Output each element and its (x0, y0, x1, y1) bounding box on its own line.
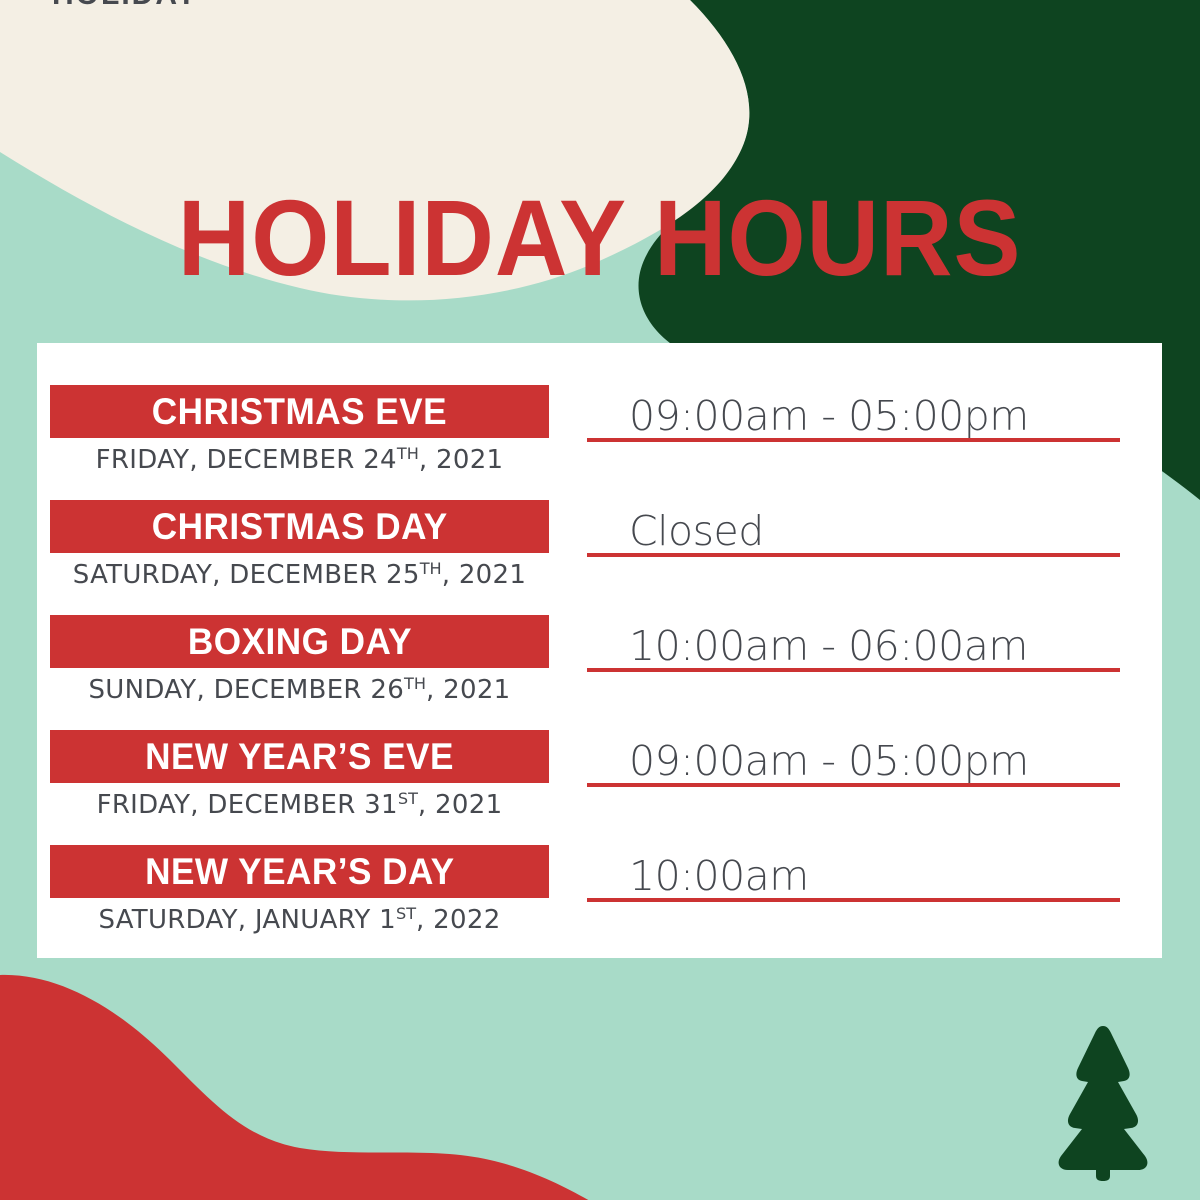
holiday-name: CHRISTMAS EVE (152, 391, 447, 433)
hours-row: NEW YEAR’S DAY10:00amSATURDAY, JANUARY 1… (37, 803, 1162, 921)
hours-underline (587, 898, 1120, 902)
holiday-name: CHRISTMAS DAY (152, 506, 448, 548)
hours-list: CHRISTMAS EVE09:00am - 05:00pmFRIDAY, DE… (37, 343, 1162, 921)
holiday-name: NEW YEAR’S DAY (145, 851, 454, 893)
holiday-name-bar: NEW YEAR’S EVE (50, 730, 549, 783)
holiday-name-bar: CHRISTMAS EVE (50, 385, 549, 438)
date-prefix: SATURDAY, JANUARY 1 (98, 905, 396, 935)
page-title-text: HOLIDAY HOURS (178, 184, 1022, 292)
holiday-date: SATURDAY, JANUARY 1ST, 2022 (50, 904, 549, 935)
clipped-top-text-strip: HOLIDAY (0, 0, 1200, 8)
hours-value-group: Closed (549, 494, 1120, 557)
date-ordinal: ST (396, 904, 416, 923)
hours-value-group: 10:00am - 06:00am (549, 609, 1120, 672)
hours-value: 09:00am - 05:00pm (629, 737, 1029, 785)
hours-value: 10:00am - 06:00am (629, 622, 1028, 670)
holiday-name-bar: CHRISTMAS DAY (50, 500, 549, 553)
page-title: HOLIDAY HOURS (0, 184, 1200, 292)
hours-row: CHRISTMAS DAYClosedSATURDAY, DECEMBER 25… (37, 458, 1162, 573)
hours-card: CHRISTMAS EVE09:00am - 05:00pmFRIDAY, DE… (37, 343, 1162, 958)
hours-underline (587, 668, 1120, 672)
holiday-name-bar: NEW YEAR’S DAY (50, 845, 549, 898)
holiday-name-bar: BOXING DAY (50, 615, 549, 668)
red-wave-shape (0, 975, 640, 1200)
holiday-name: NEW YEAR’S EVE (145, 736, 454, 778)
hours-row: CHRISTMAS EVE09:00am - 05:00pmFRIDAY, DE… (37, 343, 1162, 458)
hours-row: NEW YEAR’S EVE09:00am - 05:00pmFRIDAY, D… (37, 688, 1162, 803)
hours-value: 10:00am (629, 852, 809, 900)
hours-value-group: 09:00am - 05:00pm (549, 379, 1120, 442)
hours-value: 09:00am - 05:00pm (629, 392, 1029, 440)
clipped-top-text: HOLIDAY (52, 0, 198, 8)
date-suffix: , 2022 (416, 905, 501, 935)
holiday-hours-poster: HOLIDAY HOLIDAY HOURS CHRISTMAS EVE09:00… (0, 0, 1200, 1200)
hours-row: BOXING DAY10:00am - 06:00amSUNDAY, DECEM… (37, 573, 1162, 688)
hours-value-group: 10:00am (549, 839, 1120, 902)
holiday-name: BOXING DAY (187, 621, 411, 663)
hours-value-group: 09:00am - 05:00pm (549, 724, 1120, 787)
hours-value: Closed (629, 507, 764, 555)
hours-underline (587, 438, 1120, 442)
hours-underline (587, 553, 1120, 557)
christmas-tree-icon (1048, 1022, 1158, 1182)
hours-underline (587, 783, 1120, 787)
